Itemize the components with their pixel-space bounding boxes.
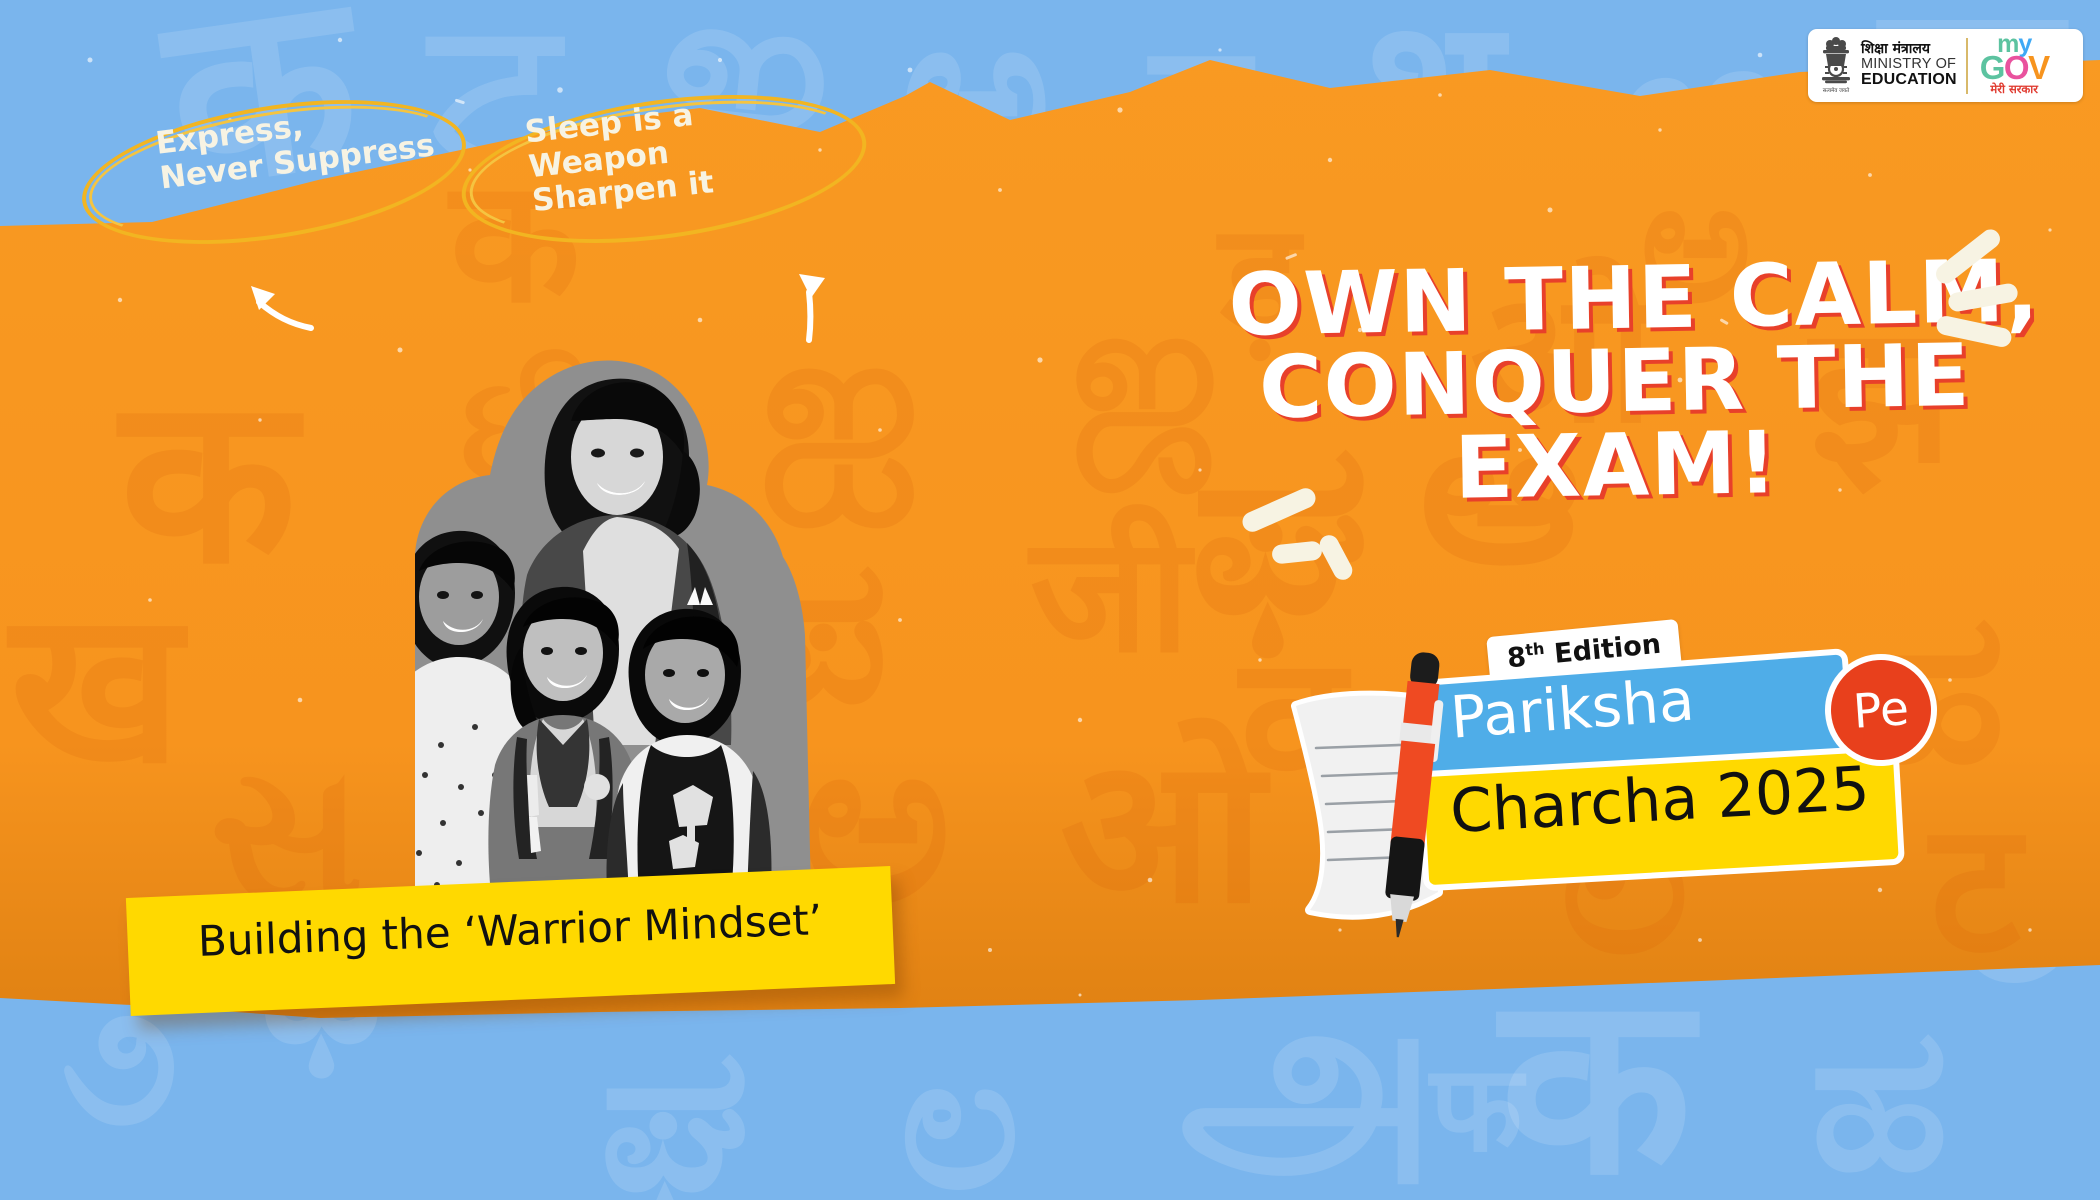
svg-text:जी: जी <box>1027 501 1196 688</box>
arrow-doodle-right <box>785 258 855 348</box>
edition-suffix: th <box>1524 639 1545 660</box>
mygov-gov: GOV <box>1980 54 2049 81</box>
ministry-hindi: शिक्षा मंत्रालय <box>1861 42 1957 57</box>
svg-text:ख: ख <box>6 565 188 810</box>
callout-express-never-suppress: Express, Never Suppress <box>135 110 455 179</box>
pen-icon <box>1368 642 1458 942</box>
arrow-doodle-left <box>235 272 325 352</box>
ministry-text-block: शिक्षा मंत्रालय MINISTRY OF EDUCATION <box>1861 42 1957 89</box>
pariksha-pe-charcha-logo: 8th Edition Pariksha Pe Charcha 2025 <box>1270 628 1930 948</box>
group-photo: adidas <box>295 275 840 895</box>
pariksha-pe-charcha-banner: क ਟ ஐ ಅ न श ఆ झ ख ಥ ಘ ಲ அ क फ ಹ ट ૭ <box>0 0 2100 1200</box>
ministry-english-line1: MINISTRY OF <box>1861 57 1957 72</box>
callout-sleep-is-a-weapon: Sleep is a Weapon Sharpen it <box>510 100 840 204</box>
svg-text:ट: ट <box>1927 784 2027 993</box>
word-charcha: Charcha <box>1448 763 1699 847</box>
mygov-logo[interactable]: my GOV मेरी सरकार <box>1968 34 2059 98</box>
state-emblem-icon: सत्यमेव जयते <box>1818 37 1854 95</box>
ministry-of-education-logo: सत्यमेव जयते शिक्षा मंत्रालय MINISTRY OF… <box>1808 37 1966 95</box>
headline: OWN THE CALM, CONQUER THE EXAM! <box>1228 251 2002 515</box>
emblem-motto: सत्यमेव जयते <box>1823 87 1850 94</box>
ribbon-text: Building the ‘Warrior Mindset’ <box>127 893 893 969</box>
ministry-english-line2: EDUCATION <box>1861 72 1957 89</box>
logo-bar[interactable]: सत्यमेव जयते शिक्षा मंत्रालय MINISTRY OF… <box>1808 29 2083 102</box>
year-2025: 2025 <box>1715 754 1871 832</box>
